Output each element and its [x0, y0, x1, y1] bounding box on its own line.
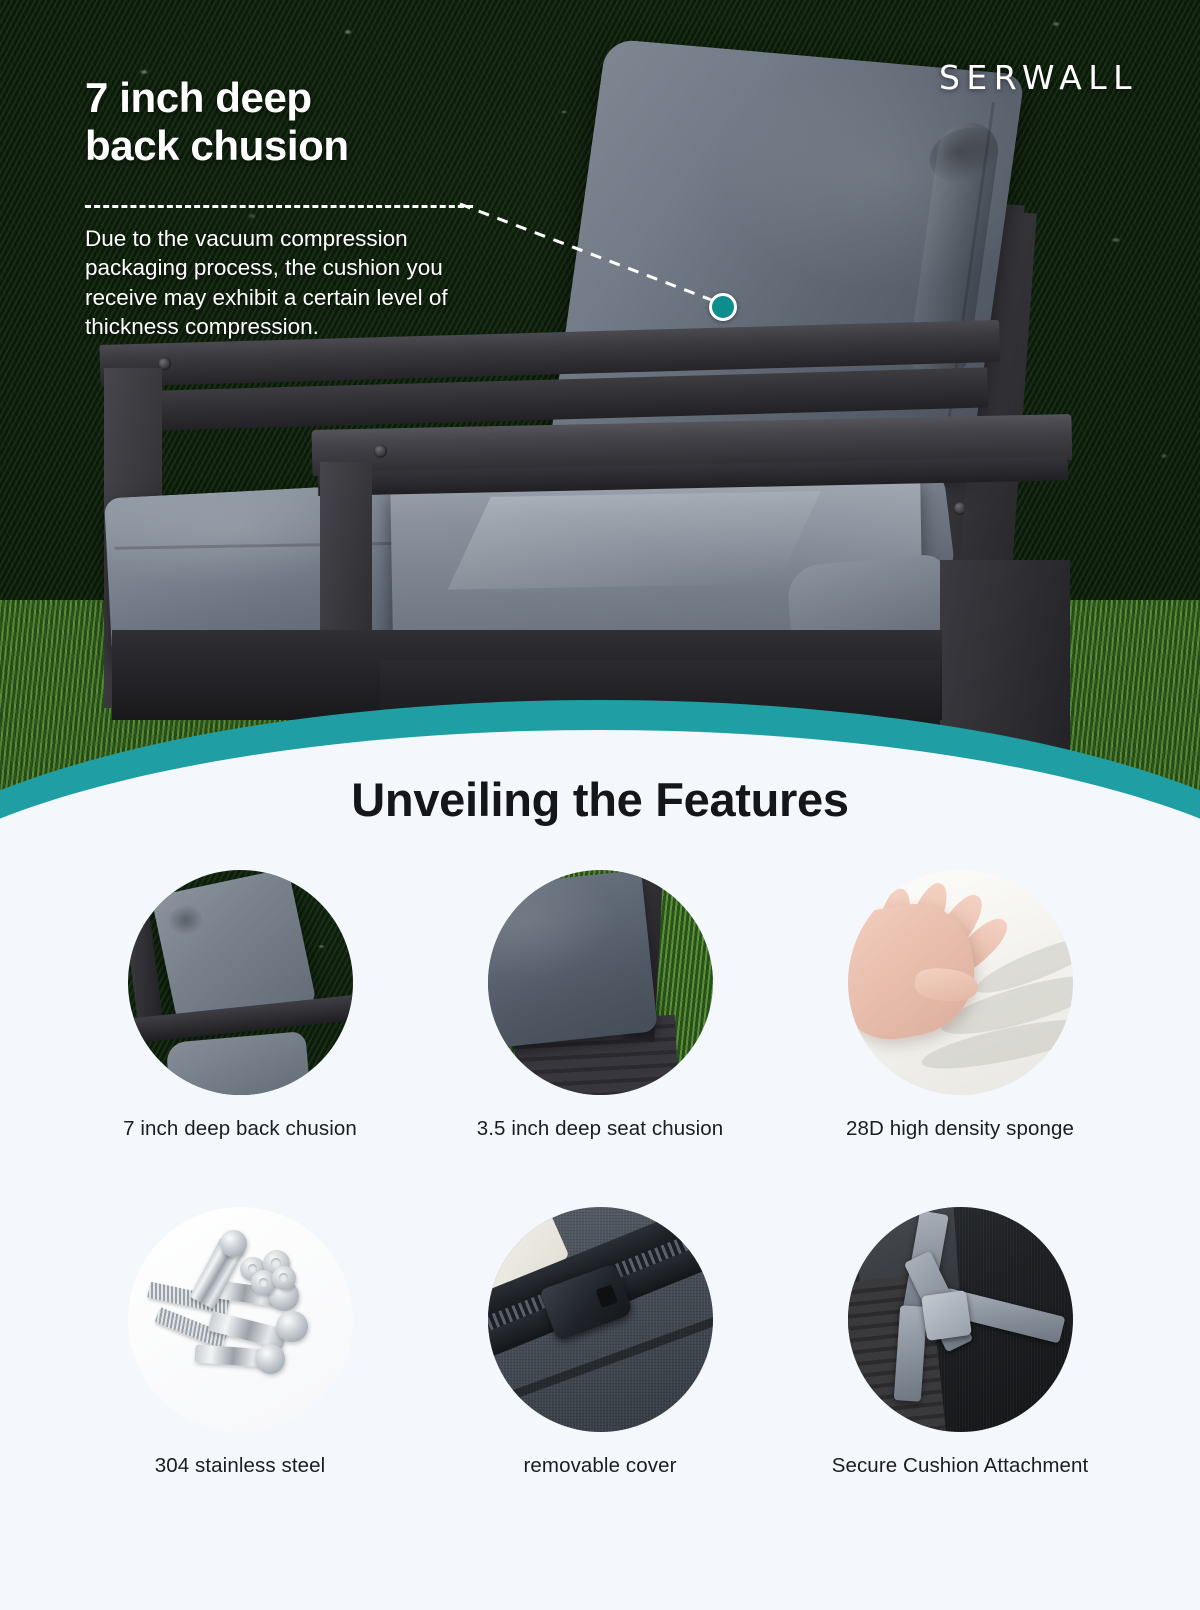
sponge-density-photo [848, 870, 1073, 1095]
cushion-tie-photo [848, 1207, 1073, 1432]
feature-card-sponge[interactable]: 28D high density sponge [780, 870, 1140, 1141]
stainless-hardware-photo [128, 1207, 353, 1432]
back-cushion-callout-dot [709, 293, 737, 321]
hero-dashed-divider [85, 205, 473, 208]
seat-cushion-photo [488, 870, 713, 1095]
feature-card-stainless-steel[interactable]: 304 stainless steel [60, 1207, 420, 1478]
zipper-cover-photo [488, 1207, 713, 1432]
features-title: Unveiling the Features [0, 772, 1200, 827]
feature-caption: 3.5 inch deep seat chusion [477, 1117, 724, 1141]
hero-body-text: Due to the vacuum compression packaging … [85, 224, 515, 341]
brand-logo: SERWALL [939, 58, 1138, 97]
feature-card-cushion-attachment[interactable]: Secure Cushion Attachment [780, 1207, 1140, 1478]
feature-card-removable-cover[interactable]: removable cover [420, 1207, 780, 1478]
cushion-pucker [925, 121, 1008, 190]
hero-banner: SERWALL 7 inch deep back chusion Due to … [0, 0, 1200, 800]
callout-leader-line [460, 200, 740, 320]
feature-caption: 7 inch deep back chusion [123, 1117, 357, 1141]
feature-caption: 28D high density sponge [846, 1117, 1074, 1141]
screw-icon [374, 444, 387, 457]
feature-caption: removable cover [523, 1454, 676, 1478]
features-section: Unveiling the Features 7 inch deep back … [0, 700, 1200, 1500]
feature-caption: 304 stainless steel [155, 1454, 326, 1478]
cushion-highlight [448, 491, 821, 590]
feature-caption: Secure Cushion Attachment [832, 1454, 1089, 1478]
back-cushion-photo [128, 870, 353, 1095]
features-grid: 7 inch deep back chusion 3.5 inch deep s… [60, 870, 1140, 1478]
hero-headline: 7 inch deep back chusion [85, 74, 505, 170]
feature-card-back-cushion[interactable]: 7 inch deep back chusion [60, 870, 420, 1141]
feature-card-seat-cushion[interactable]: 3.5 inch deep seat chusion [420, 870, 780, 1141]
